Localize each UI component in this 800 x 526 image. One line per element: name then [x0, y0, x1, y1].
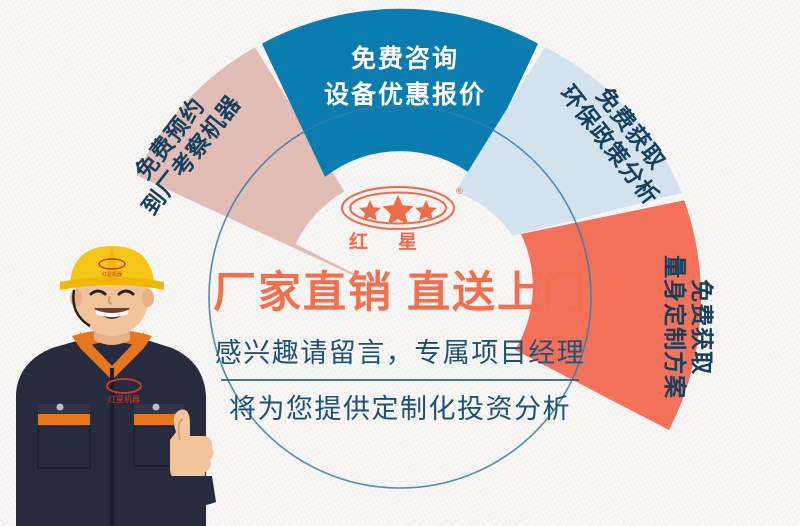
logo-wordmark: 红星 — [349, 230, 447, 253]
text-divider — [221, 379, 579, 381]
promo-banner: 免费预约 到厂考察机器 免费咨询 设备优惠报价 免费获取 环保政策分析 免费获取… — [0, 0, 800, 526]
subline-1: 感兴趣请留言，专属项目经理 — [196, 339, 604, 369]
trademark-symbol: ® — [456, 186, 463, 196]
arc-label-line1: 免费咨询 — [305, 42, 505, 78]
arc-label-line1: 免费获取 — [688, 247, 715, 407]
hongxing-logo-icon: ® 红星 — [330, 182, 470, 256]
worker-photo: 红星机器 红星机器 — [0, 244, 224, 526]
headline: 厂家直销 直送上门 — [196, 272, 604, 315]
arc-label-line2: 量身定制方案 — [661, 247, 688, 407]
arc-label-free-custom-plan: 免费获取 量身定制方案 — [661, 247, 715, 407]
arc-label-line2: 设备优惠报价 — [305, 78, 505, 114]
svg-text:红星机器: 红星机器 — [102, 271, 122, 278]
subline-2: 将为您提供定制化投资分析 — [196, 395, 604, 425]
brand-logo: ® 红星 — [196, 182, 604, 256]
arc-label-free-consultation: 免费咨询 设备优惠报价 — [305, 42, 505, 113]
center-content: ® 红星 厂家直销 直送上门 感兴趣请留言，专属项目经理 将为您提供定制化投资分… — [196, 178, 604, 448]
svg-text:红星机器: 红星机器 — [108, 394, 140, 404]
